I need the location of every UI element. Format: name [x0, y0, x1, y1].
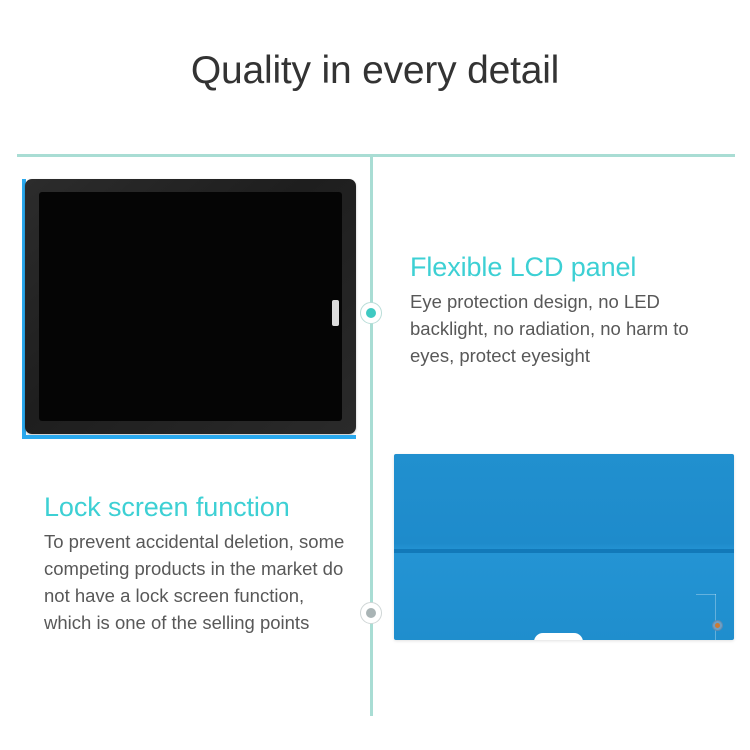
horizontal-divider [17, 154, 735, 157]
page-title: Quality in every detail [0, 47, 750, 95]
tablet-edge-glow-bottom [22, 435, 356, 439]
tablet-back-notch-secondary [557, 633, 583, 640]
feature-lock-screen-function: Lock screen function To prevent accident… [44, 490, 354, 636]
node-marker-flexible-lcd-panel [360, 302, 382, 324]
tablet-front-image [22, 179, 356, 439]
infographic-page: Quality in every detail Flexible LCD pan… [0, 0, 750, 750]
tablet-side-button [332, 300, 339, 326]
feature-body: To prevent accidental deletion, some com… [44, 528, 354, 636]
vertical-divider [370, 154, 373, 716]
tablet-bezel [25, 179, 356, 434]
tablet-screen [39, 192, 342, 421]
node-marker-lock-screen-function [360, 602, 382, 624]
tablet-back-seam [394, 549, 734, 553]
tablet-back-panel-line-top [696, 594, 716, 595]
feature-heading: Flexible LCD panel [410, 250, 728, 284]
tablet-back-panel-line [715, 594, 716, 640]
tablet-back-screw-icon [712, 620, 723, 631]
tablet-back-image [394, 454, 734, 640]
feature-body: Eye protection design, no LED backlight,… [410, 288, 728, 369]
feature-heading: Lock screen function [44, 490, 354, 524]
feature-flexible-lcd-panel: Flexible LCD panel Eye protection design… [410, 250, 728, 369]
